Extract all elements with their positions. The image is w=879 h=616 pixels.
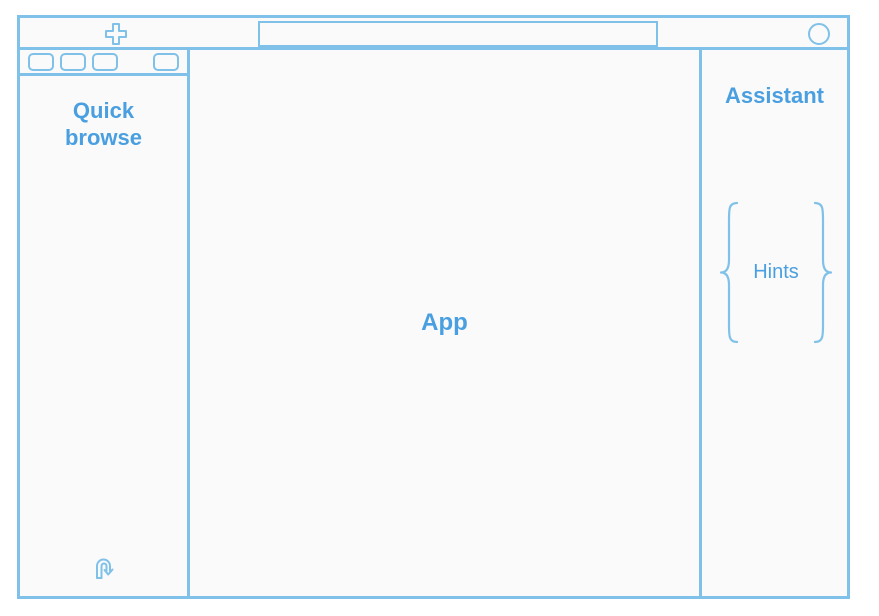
hints-block: Hints	[714, 200, 838, 345]
top-bar	[20, 18, 847, 50]
circle-avatar-icon	[807, 22, 831, 46]
account-avatar-button[interactable]	[807, 22, 831, 46]
hints-label: Hints	[753, 261, 799, 284]
assistant-panel: Assistant Hints	[702, 50, 847, 596]
u-turn-arrow-icon	[90, 553, 120, 583]
right-curly-brace-icon	[812, 200, 834, 345]
u-turn-button[interactable]	[90, 553, 120, 588]
search-input[interactable]	[258, 21, 658, 47]
toolbar-button-2[interactable]	[60, 53, 86, 71]
assistant-panel-title: Assistant	[702, 83, 847, 109]
toolbar-button-3[interactable]	[92, 53, 118, 71]
left-curly-brace-icon	[718, 200, 740, 345]
quick-browse-sidebar: Quick browse	[20, 50, 190, 596]
app-panel: App	[190, 50, 702, 596]
sidebar-footer	[20, 544, 187, 596]
sidebar-title: Quick browse	[20, 98, 187, 152]
toolbar-button-4[interactable]	[153, 53, 179, 71]
toolbar-button-1[interactable]	[28, 53, 54, 71]
wireframe-screen: Quick browse App	[0, 0, 879, 616]
add-tab-button[interactable]	[98, 20, 134, 48]
body-row: Quick browse App	[20, 50, 847, 596]
sidebar-toolbar	[20, 50, 187, 76]
application-frame: Quick browse App	[17, 15, 850, 599]
plus-icon	[103, 21, 129, 47]
sidebar-content-area	[20, 152, 187, 544]
app-panel-title: App	[421, 309, 468, 337]
